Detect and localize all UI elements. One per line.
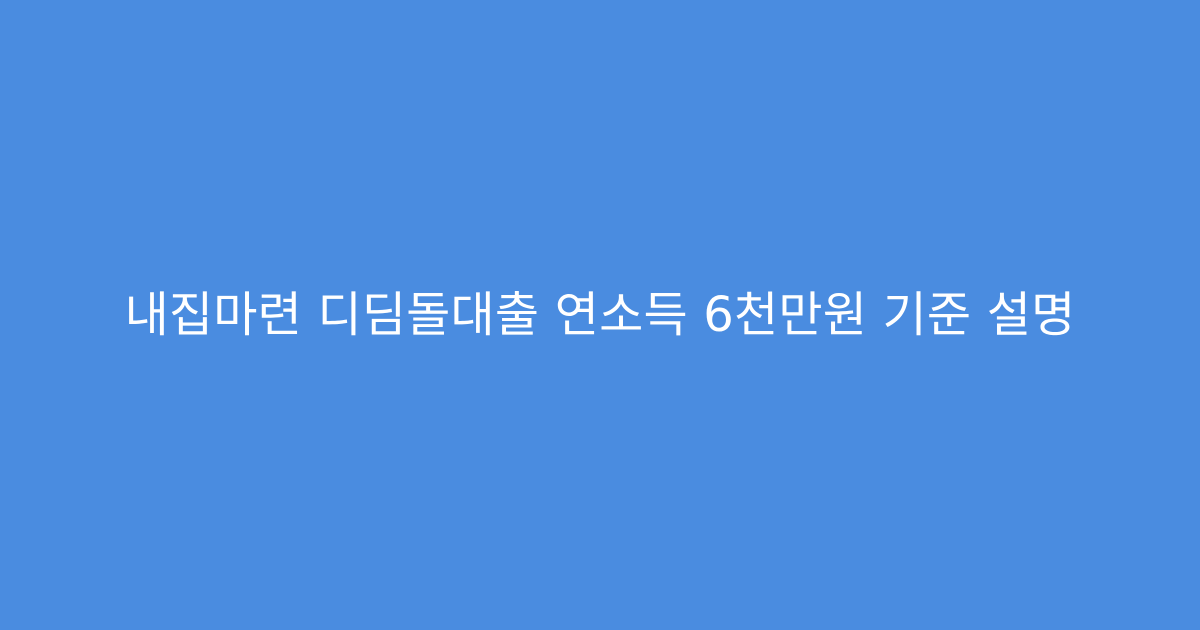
page-title: 내집마련 디딤돌대출 연소득 6천만원 기준 설명 [125,285,1076,345]
og-card-canvas: 내집마련 디딤돌대출 연소득 6천만원 기준 설명 [0,0,1200,630]
